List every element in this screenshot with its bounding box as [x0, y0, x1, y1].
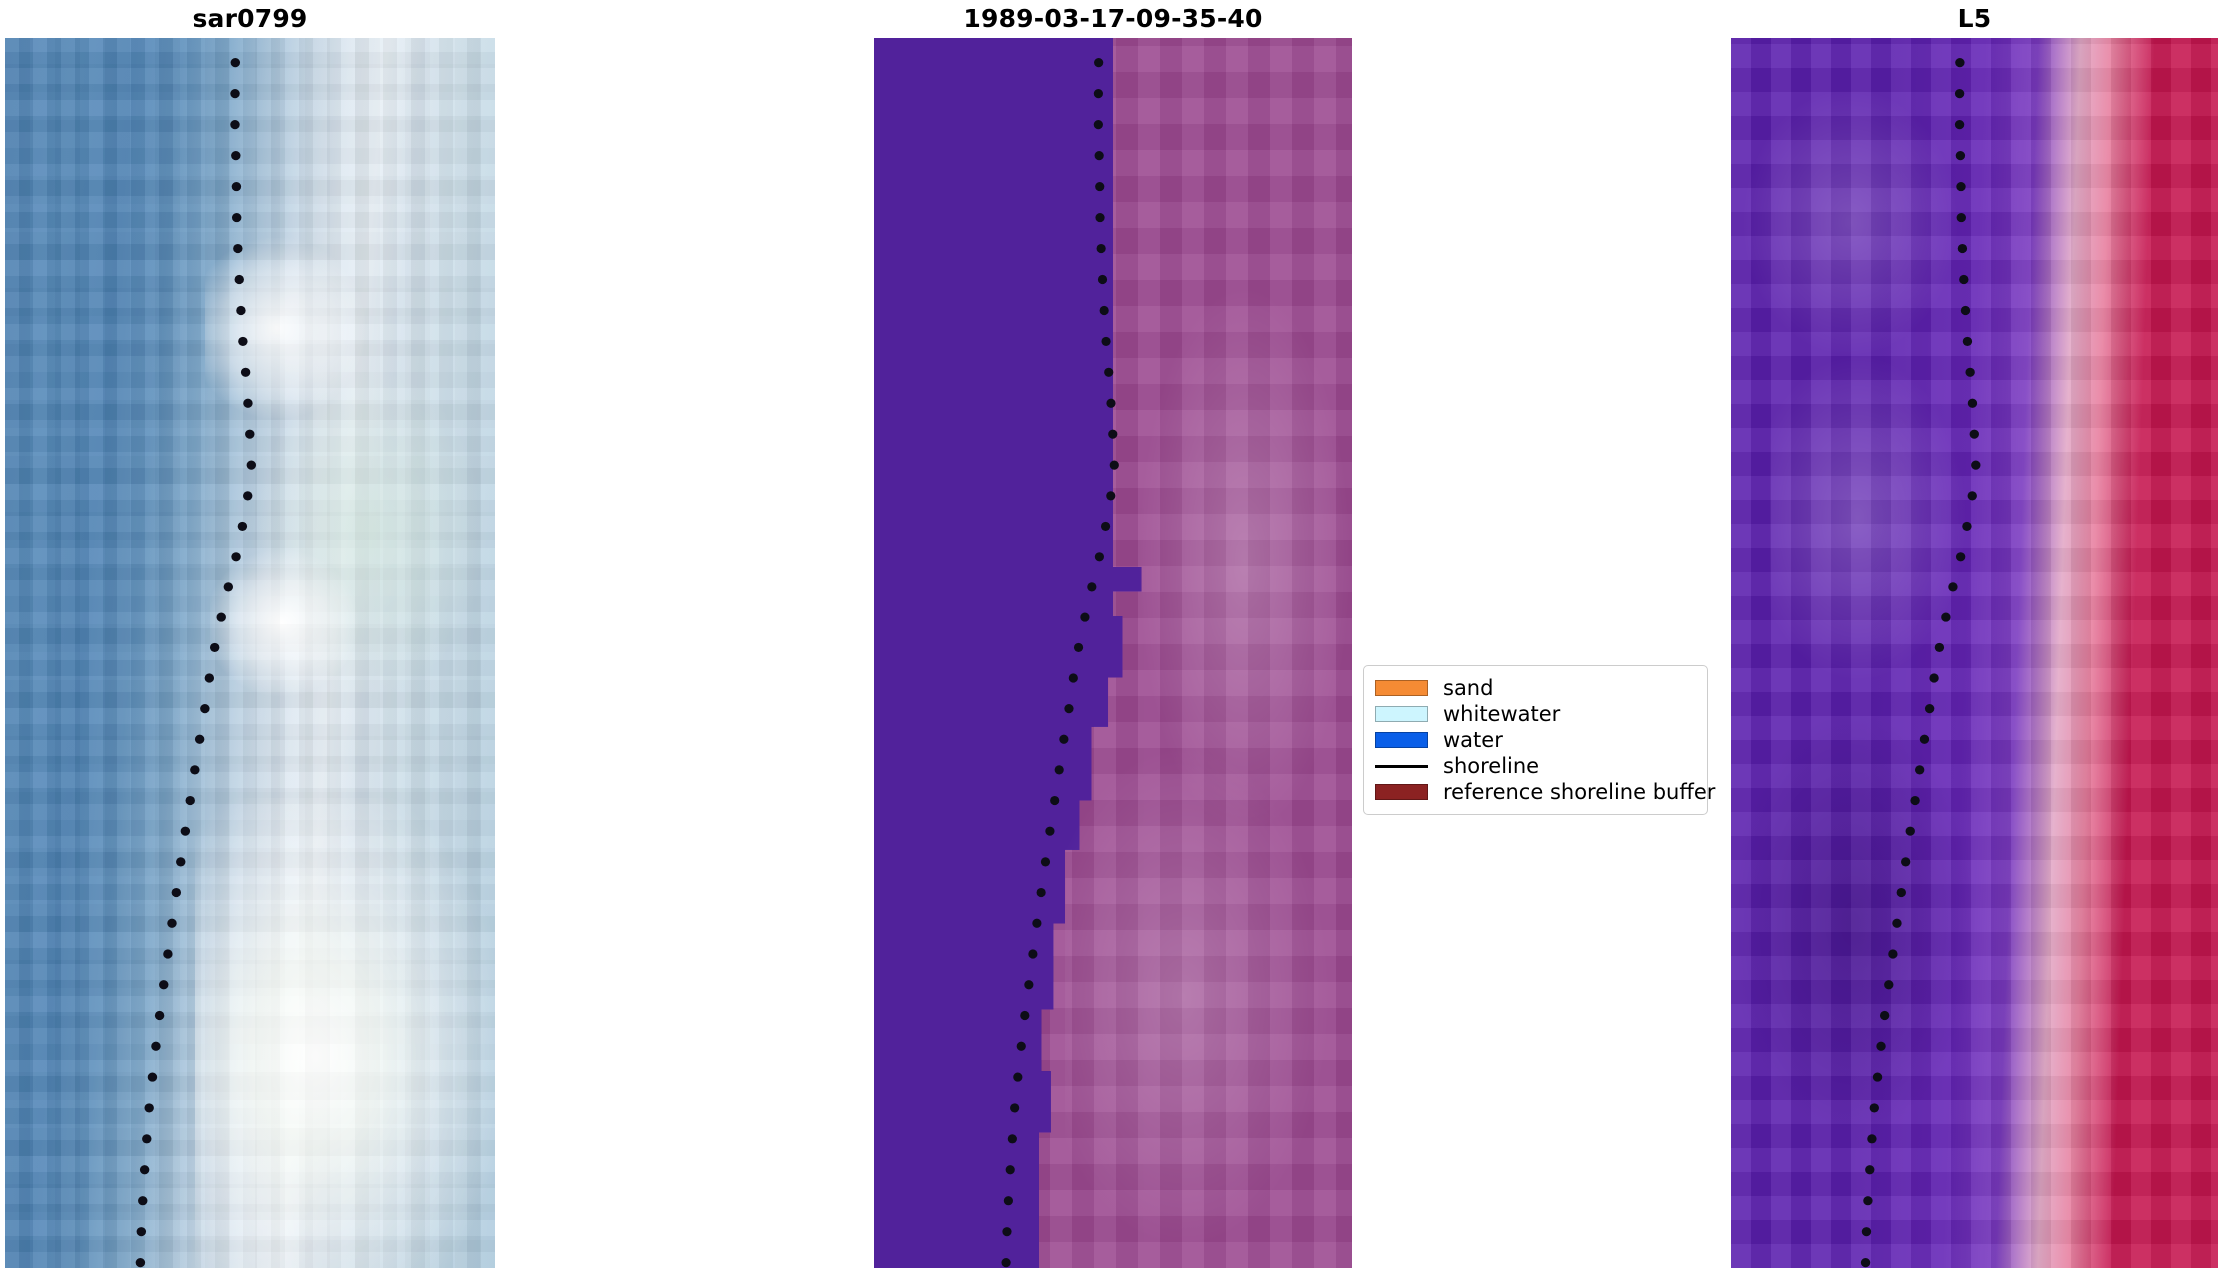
- legend-swatch-shoreline: [1375, 765, 1428, 768]
- legend-label-reference-buffer: reference shoreline buffer: [1443, 782, 1715, 803]
- panel-title-l5: L5: [1731, 6, 2218, 31]
- legend-item-whitewater: whitewater: [1375, 701, 1696, 727]
- legend-swatch-sand: [1375, 680, 1428, 696]
- legend-box: sand whitewater water shoreline referenc…: [1363, 665, 1708, 815]
- legend-label-sand: sand: [1443, 678, 1493, 699]
- legend-swatch-water: [1375, 732, 1428, 748]
- legend-item-water: water: [1375, 727, 1696, 753]
- panel-sar-image: [5, 38, 495, 1268]
- figure-canvas: sar0799 1989-03-17-09-35-40 L5 sand: [0, 0, 2223, 1283]
- panel-title-sar: sar0799: [5, 6, 495, 31]
- panel-l5-image: [1731, 38, 2218, 1268]
- shoreline-overlay-l5: [1731, 38, 2218, 1268]
- shoreline-overlay-classification: [874, 38, 1352, 1268]
- legend-swatch-whitewater: [1375, 706, 1428, 722]
- legend-label-water: water: [1443, 730, 1503, 751]
- panel-classification-image: [874, 38, 1352, 1268]
- shoreline-overlay-sar: [5, 38, 495, 1268]
- legend-label-shoreline: shoreline: [1443, 756, 1539, 777]
- legend-swatch-reference-buffer: [1375, 784, 1428, 800]
- legend-item-shoreline: shoreline: [1375, 753, 1696, 779]
- legend-item-reference-buffer: reference shoreline buffer: [1375, 779, 1696, 805]
- legend-item-sand: sand: [1375, 675, 1696, 701]
- panel-title-classification: 1989-03-17-09-35-40: [874, 6, 1352, 31]
- legend-label-whitewater: whitewater: [1443, 704, 1560, 725]
